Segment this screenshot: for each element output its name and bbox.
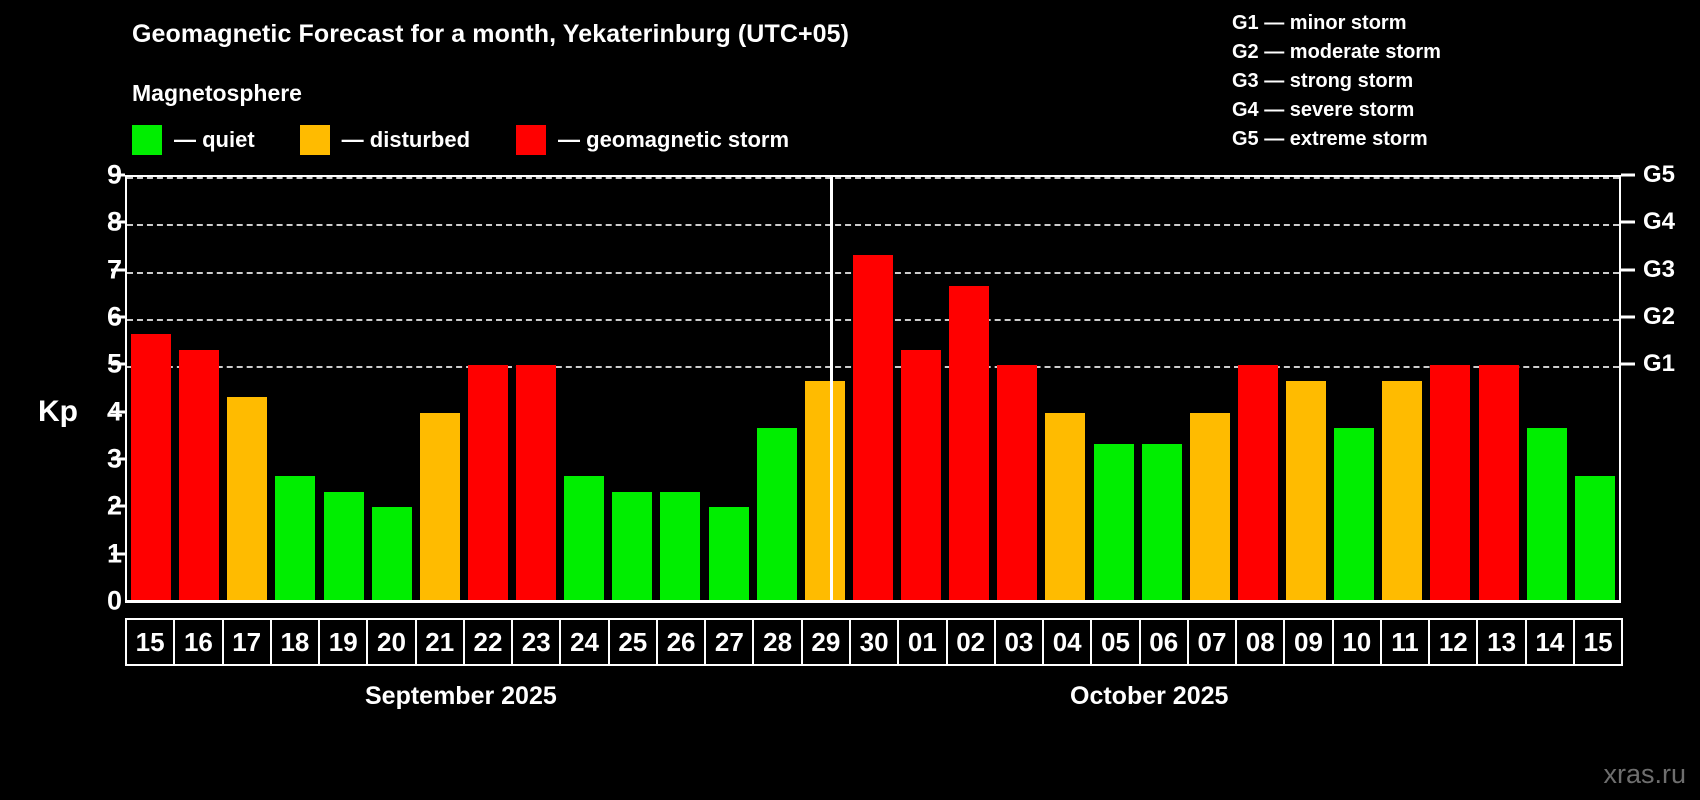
bar-30-storm[interactable] bbox=[853, 255, 893, 602]
bar-cell bbox=[656, 177, 704, 602]
g-scale-legend: G1 — minor storm G2 — moderate storm G3 … bbox=[1232, 9, 1441, 154]
y-tick-mark-8 bbox=[111, 221, 125, 224]
bar-cell bbox=[1090, 177, 1138, 602]
day-label-12-oct: 12 bbox=[1428, 618, 1478, 666]
g-scale-row-g3: G3 — strong storm bbox=[1232, 67, 1441, 96]
bar-cell bbox=[1186, 177, 1234, 602]
day-label-16-sep: 16 bbox=[173, 618, 223, 666]
bar-cell bbox=[1282, 177, 1330, 602]
bar-cell bbox=[127, 177, 175, 602]
bar-28-quiet[interactable] bbox=[757, 428, 797, 602]
bar-cell bbox=[416, 177, 464, 602]
bar-23-storm[interactable] bbox=[516, 365, 556, 602]
day-label-row: 1516171819202122232425262728293001020304… bbox=[125, 618, 1621, 666]
y-tick-mark-9 bbox=[111, 174, 125, 177]
y-tick-mark-1 bbox=[111, 552, 125, 555]
g-tick-mark-g4 bbox=[1621, 221, 1635, 224]
day-label-15-oct: 15 bbox=[1573, 618, 1623, 666]
bar-05-quiet[interactable] bbox=[1094, 444, 1134, 602]
bar-cell bbox=[1234, 177, 1282, 602]
bar-series bbox=[127, 177, 1619, 602]
g-scale-row-g5: G5 — extreme storm bbox=[1232, 125, 1441, 154]
g-tick-label-g4: G4 bbox=[1643, 208, 1675, 236]
bar-03-storm[interactable] bbox=[997, 365, 1037, 602]
bar-cell bbox=[271, 177, 319, 602]
day-label-29-sep: 29 bbox=[801, 618, 851, 666]
bar-cell bbox=[223, 177, 271, 602]
bar-02-storm[interactable] bbox=[949, 286, 989, 602]
day-label-25-sep: 25 bbox=[608, 618, 658, 666]
bar-cell bbox=[464, 177, 512, 602]
g-scale-row-g1: G1 — minor storm bbox=[1232, 9, 1441, 38]
bar-13-storm[interactable] bbox=[1479, 365, 1519, 602]
page-title: Geomagnetic Forecast for a month, Yekate… bbox=[132, 20, 849, 49]
day-label-21-sep: 21 bbox=[415, 618, 465, 666]
bar-16-storm[interactable] bbox=[179, 350, 219, 602]
day-label-18-sep: 18 bbox=[270, 618, 320, 666]
month-divider bbox=[830, 175, 833, 602]
day-label-28-sep: 28 bbox=[752, 618, 802, 666]
legend-item-disturbed: — disturbed bbox=[300, 125, 470, 155]
bar-06-quiet[interactable] bbox=[1142, 444, 1182, 602]
g-scale-row-g4: G4 — severe storm bbox=[1232, 96, 1441, 125]
y-tick-label-0: 0 bbox=[82, 586, 122, 617]
bar-cell bbox=[1138, 177, 1186, 602]
bar-18-quiet[interactable] bbox=[275, 476, 315, 602]
day-label-03-oct: 03 bbox=[994, 618, 1044, 666]
bar-21-disturbed[interactable] bbox=[420, 413, 460, 602]
bar-cell bbox=[1475, 177, 1523, 602]
bar-19-quiet[interactable] bbox=[324, 492, 364, 602]
bar-26-quiet[interactable] bbox=[660, 492, 700, 602]
bar-27-quiet[interactable] bbox=[709, 507, 749, 602]
bar-29-disturbed[interactable] bbox=[805, 381, 845, 602]
magnetosphere-label: Magnetosphere bbox=[132, 80, 302, 107]
legend-swatch-quiet bbox=[132, 125, 162, 155]
legend-swatch-disturbed bbox=[300, 125, 330, 155]
y-axis-title: Kp bbox=[38, 395, 78, 429]
legend-label-quiet: — quiet bbox=[174, 127, 255, 153]
bar-14-quiet[interactable] bbox=[1527, 428, 1567, 602]
bar-17-disturbed[interactable] bbox=[227, 397, 267, 602]
bar-cell bbox=[705, 177, 753, 602]
g-tick-label-g1: G1 bbox=[1643, 350, 1675, 378]
bar-cell bbox=[1041, 177, 1089, 602]
bar-cell bbox=[175, 177, 223, 602]
bar-25-quiet[interactable] bbox=[612, 492, 652, 602]
month-label-september: September 2025 bbox=[365, 682, 557, 711]
bar-cell bbox=[1523, 177, 1571, 602]
bar-cell bbox=[1426, 177, 1474, 602]
day-label-02-oct: 02 bbox=[946, 618, 996, 666]
bar-cell bbox=[368, 177, 416, 602]
watermark: xras.ru bbox=[1603, 759, 1686, 790]
day-label-30-sep: 30 bbox=[849, 618, 899, 666]
day-label-15-sep: 15 bbox=[125, 618, 175, 666]
bar-01-storm[interactable] bbox=[901, 350, 941, 602]
bar-09-disturbed[interactable] bbox=[1286, 381, 1326, 602]
legend: — quiet — disturbed — geomagnetic storm bbox=[132, 125, 789, 155]
legend-label-storm: — geomagnetic storm bbox=[558, 127, 789, 153]
day-label-23-sep: 23 bbox=[511, 618, 561, 666]
day-label-26-sep: 26 bbox=[656, 618, 706, 666]
legend-item-storm: — geomagnetic storm bbox=[516, 125, 789, 155]
bar-cell bbox=[512, 177, 560, 602]
day-label-04-oct: 04 bbox=[1042, 618, 1092, 666]
day-label-22-sep: 22 bbox=[463, 618, 513, 666]
g-tick-mark-g1 bbox=[1621, 363, 1635, 366]
y-tick-mark-4 bbox=[111, 410, 125, 413]
bar-cell bbox=[608, 177, 656, 602]
month-label-october: October 2025 bbox=[1070, 682, 1228, 711]
day-label-05-oct: 05 bbox=[1090, 618, 1140, 666]
bar-12-storm[interactable] bbox=[1430, 365, 1470, 602]
bar-07-disturbed[interactable] bbox=[1190, 413, 1230, 602]
bar-cell bbox=[801, 177, 849, 602]
day-label-17-sep: 17 bbox=[222, 618, 272, 666]
bar-22-storm[interactable] bbox=[468, 365, 508, 602]
bar-11-disturbed[interactable] bbox=[1382, 381, 1422, 602]
day-label-01-oct: 01 bbox=[897, 618, 947, 666]
day-label-24-sep: 24 bbox=[559, 618, 609, 666]
g-tick-label-g5: G5 bbox=[1643, 161, 1675, 189]
day-label-20-sep: 20 bbox=[366, 618, 416, 666]
y-tick-mark-7 bbox=[111, 268, 125, 271]
bar-cell bbox=[1571, 177, 1619, 602]
day-label-11-oct: 11 bbox=[1380, 618, 1430, 666]
bar-cell bbox=[897, 177, 945, 602]
day-label-06-oct: 06 bbox=[1139, 618, 1189, 666]
bar-20-quiet[interactable] bbox=[372, 507, 412, 602]
day-label-19-sep: 19 bbox=[318, 618, 368, 666]
g-scale-row-g2: G2 — moderate storm bbox=[1232, 38, 1441, 67]
bar-cell bbox=[993, 177, 1041, 602]
y-tick-mark-6 bbox=[111, 316, 125, 319]
bar-cell bbox=[320, 177, 368, 602]
bar-cell bbox=[849, 177, 897, 602]
g-tick-label-g3: G3 bbox=[1643, 256, 1675, 284]
y-tick-mark-2 bbox=[111, 505, 125, 508]
bar-15-storm[interactable] bbox=[131, 334, 171, 602]
day-label-08-oct: 08 bbox=[1235, 618, 1285, 666]
bar-10-quiet[interactable] bbox=[1334, 428, 1374, 602]
bar-cell bbox=[1330, 177, 1378, 602]
legend-item-quiet: — quiet bbox=[132, 125, 255, 155]
bar-08-storm[interactable] bbox=[1238, 365, 1278, 602]
g-tick-label-g2: G2 bbox=[1643, 303, 1675, 331]
day-label-13-oct: 13 bbox=[1476, 618, 1526, 666]
y-tick-mark-5 bbox=[111, 363, 125, 366]
g-tick-mark-g2 bbox=[1621, 316, 1635, 319]
legend-label-disturbed: — disturbed bbox=[342, 127, 470, 153]
bar-cell bbox=[1378, 177, 1426, 602]
g-tick-mark-g5 bbox=[1621, 174, 1635, 177]
day-label-09-oct: 09 bbox=[1283, 618, 1333, 666]
day-label-07-oct: 07 bbox=[1187, 618, 1237, 666]
bar-15-quiet[interactable] bbox=[1575, 476, 1615, 602]
day-label-27-sep: 27 bbox=[704, 618, 754, 666]
bar-cell bbox=[560, 177, 608, 602]
bar-04-disturbed[interactable] bbox=[1045, 413, 1085, 602]
day-label-10-oct: 10 bbox=[1332, 618, 1382, 666]
day-label-14-oct: 14 bbox=[1525, 618, 1575, 666]
bar-cell bbox=[945, 177, 993, 602]
bar-24-quiet[interactable] bbox=[564, 476, 604, 602]
x-axis-baseline bbox=[125, 600, 1621, 603]
g-tick-mark-g3 bbox=[1621, 268, 1635, 271]
y-tick-mark-3 bbox=[111, 458, 125, 461]
bar-cell bbox=[753, 177, 801, 602]
legend-swatch-storm bbox=[516, 125, 546, 155]
